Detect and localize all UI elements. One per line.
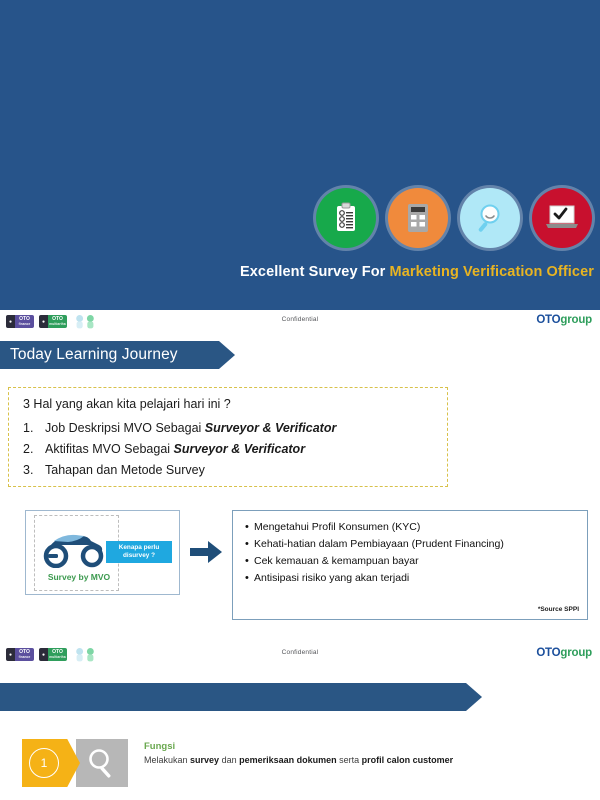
- fungsi-row: 1 Fungsi Melakukan survey dan pemeriksaa…: [22, 739, 453, 787]
- otogroup-logo-sub: group: [560, 314, 592, 326]
- list-item: Mengetahui Profil Konsumen (KYC): [245, 519, 504, 536]
- fungsi-text-block: Fungsi Melakukan survey dan pemeriksaan …: [144, 739, 453, 765]
- list-item-text: Job Deskripsi MVO Sebagai Surveyor & Ver…: [45, 418, 336, 439]
- survey-reasons-card: Mengetahui Profil Konsumen (KYC) Kehati-…: [232, 510, 588, 620]
- fungsi-description: Melakukan survey dan pemeriksaan dokumen…: [144, 755, 453, 765]
- chip-line-2: disurvey ?: [123, 552, 155, 560]
- step-chevron: 1: [22, 739, 80, 787]
- source-note: *Source SPPI: [538, 606, 579, 613]
- survey-caption: Survey by MVO: [39, 572, 119, 582]
- list-item: 1. Job Deskripsi MVO Sebagai Surveyor & …: [23, 418, 336, 439]
- today-learning-journey-slide: ● OTO finance ● OTO multiartha Confi: [0, 310, 600, 643]
- list-item: 3. Tahapan dan Metode Survey: [23, 460, 336, 481]
- magnifier-tile: [76, 739, 128, 787]
- list-item: 2. Aktifitas MVO Sebagai Surveyor & Veri…: [23, 439, 336, 460]
- chip-line-1: Kenapa perlu: [119, 544, 160, 552]
- laptop-check-icon: [532, 188, 592, 248]
- survey-reasons-list: Mengetahui Profil Konsumen (KYC) Kehati-…: [245, 519, 504, 587]
- magnifier-icon: [85, 746, 119, 780]
- list-item-number: 1.: [23, 418, 45, 439]
- objectives-intro: 3 Hal yang akan kita pelajari hari ini ?: [23, 397, 231, 411]
- calculator-icon: [388, 188, 448, 248]
- list-item-number: 3.: [23, 460, 45, 481]
- kenapa-perlu-disurvey-chip: Kenapa perlu disurvey ?: [106, 541, 172, 563]
- desc-part: serta: [337, 755, 362, 765]
- fungsi-title: Fungsi: [144, 741, 453, 752]
- desc-part: Melakukan: [144, 755, 190, 765]
- list-item: Kehati-hatian dalam Pembiayaan (Prudent …: [245, 536, 504, 553]
- list-item-plain: Job Deskripsi MVO Sebagai: [45, 421, 205, 435]
- title-slide: Excellent Survey For Marketing Verificat…: [0, 0, 600, 310]
- list-item-text: Aktifitas MVO Sebagai Surveyor & Verific…: [45, 439, 305, 460]
- slide3-title-banner: [0, 683, 482, 711]
- list-item-emphasis: Surveyor & Verificator: [205, 421, 337, 435]
- magnifier-icon: [460, 188, 520, 248]
- list-item: Antisipasi risiko yang akan terjadi: [245, 570, 504, 587]
- desc-part: dan: [219, 755, 239, 765]
- step-number: 1: [29, 748, 59, 778]
- otogroup-logo-main: OTO: [536, 314, 560, 326]
- title-icon-row: [316, 188, 592, 248]
- list-item-plain: Aktifitas MVO Sebagai: [45, 442, 174, 456]
- learning-objectives-box: 3 Hal yang akan kita pelajari hari ini ?…: [8, 387, 448, 487]
- list-item-emphasis: Surveyor & Verificator: [174, 442, 306, 456]
- survey-illustration-card: Survey by MVO Kenapa perlu disurvey ?: [25, 510, 180, 595]
- clipboard-checklist-icon: [316, 188, 376, 248]
- confidential-label: Confidential: [0, 316, 600, 323]
- list-item: Cek kemauan & kemampuan bayar: [245, 553, 504, 570]
- slide2-title-banner: Today Learning Journey: [0, 341, 235, 369]
- objectives-list: 1. Job Deskripsi MVO Sebagai Surveyor & …: [23, 418, 336, 481]
- confidential-label: Confidential: [0, 649, 600, 656]
- fungsi-slide: ● OTO finance ● OTO multiartha Confi: [0, 643, 600, 800]
- list-item-text: Tahapan dan Metode Survey: [45, 460, 205, 481]
- fungsi-step-marker: 1: [22, 739, 132, 787]
- otogroup-logo-sub: group: [560, 647, 592, 659]
- list-item-plain: Tahapan dan Metode Survey: [45, 463, 205, 477]
- slide2-header: ● OTO finance ● OTO multiartha Confi: [0, 310, 600, 336]
- otogroup-logo: OTOgroup: [536, 314, 592, 326]
- title-slide-headline: Excellent Survey For Marketing Verificat…: [0, 264, 594, 280]
- motorcycle-icon: [40, 524, 114, 568]
- slide3-header: ● OTO finance ● OTO multiartha Confi: [0, 643, 600, 669]
- right-block-arrow-icon: [188, 538, 224, 566]
- otogroup-logo-main: OTO: [536, 647, 560, 659]
- list-item-number: 2.: [23, 439, 45, 460]
- headline-prefix: Excellent Survey For: [240, 264, 390, 280]
- desc-part: survey: [190, 755, 219, 765]
- headline-emphasis: Marketing Verification Officer: [390, 264, 594, 280]
- desc-part: profil calon customer: [362, 755, 454, 765]
- slide2-title-text: Today Learning Journey: [0, 346, 178, 364]
- otogroup-logo: OTOgroup: [536, 647, 592, 659]
- desc-part: pemeriksaan dokumen: [239, 755, 337, 765]
